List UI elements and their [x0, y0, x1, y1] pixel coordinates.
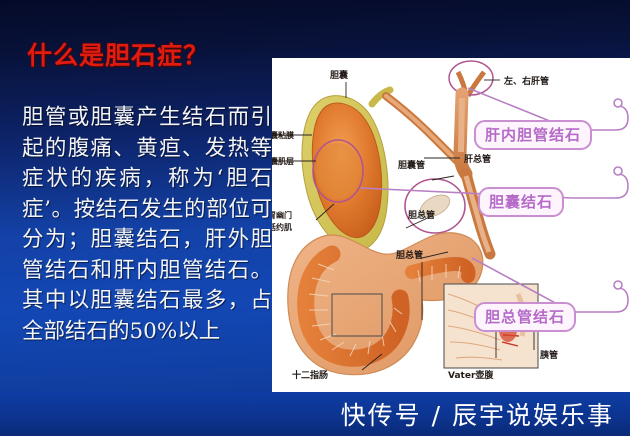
page-title: 什么是胆石症？ — [27, 36, 267, 72]
label-left-right-hepatic-duct: 左、右肝管 — [503, 75, 549, 87]
cystic-duct-illustration — [386, 96, 458, 162]
footer-bar: 快传号 / 辰宇说娱乐事 — [0, 392, 630, 436]
label-gallbladder-muscle-layer: 囊肌层 — [272, 156, 294, 166]
biliary-anatomy-illustration: 胆囊 左、右肝管 肝总管 囊粘膜 囊肌层 胃幽门 括约肌 胆囊管 胆总管 胆总管… — [272, 58, 630, 392]
callout-end-dots — [614, 99, 622, 289]
label-bile-duct-lower: 胆总管 — [396, 249, 423, 261]
label-common-bile-duct: 胆总管 — [408, 209, 435, 221]
label-pyloric-sphincter-line2: 括约肌 — [272, 222, 292, 232]
label-gallbladder-mucosa: 囊粘膜 — [272, 130, 294, 140]
label-gallbladder: 胆囊 — [330, 69, 349, 81]
label-cystic-duct: 胆囊管 — [398, 159, 425, 171]
footer-watermark: 快传号 / 辰宇说娱乐事 — [341, 396, 614, 432]
label-pyloric-sphincter-line1: 胃幽门 — [272, 210, 292, 220]
label-pancreatic-duct: 胰管 — [540, 349, 558, 361]
callout-common-bile-duct-stone[interactable]: 胆总管结石 — [474, 302, 576, 332]
label-duodenum: 十二指肠 — [292, 369, 328, 381]
label-common-hepatic-duct: 肝总管 — [464, 153, 491, 165]
gallbladder-illustration — [302, 90, 390, 251]
anatomy-diagram-panel: 胆囊 左、右肝管 肝总管 囊粘膜 囊肌层 胃幽门 括约肌 胆囊管 胆总管 胆总管… — [272, 58, 630, 392]
body-paragraph: 胆管或胆囊产生结石而引起的腹痛、黄疸、发热等症状的疾病，称为‘胆石症’。按结石发… — [22, 103, 272, 347]
label-vater-ampulla: Vater壶腹 — [448, 369, 494, 381]
slide-root: 什么是胆石症？ 胆管或胆囊产生结石而引起的腹痛、黄疸、发热等症状的疾病，称为‘胆… — [0, 0, 630, 436]
callout-gallbladder-stone[interactable]: 胆囊结石 — [478, 187, 564, 217]
callout-intrahepatic-bile-duct-stone[interactable]: 肝内胆管结石 — [474, 120, 592, 150]
